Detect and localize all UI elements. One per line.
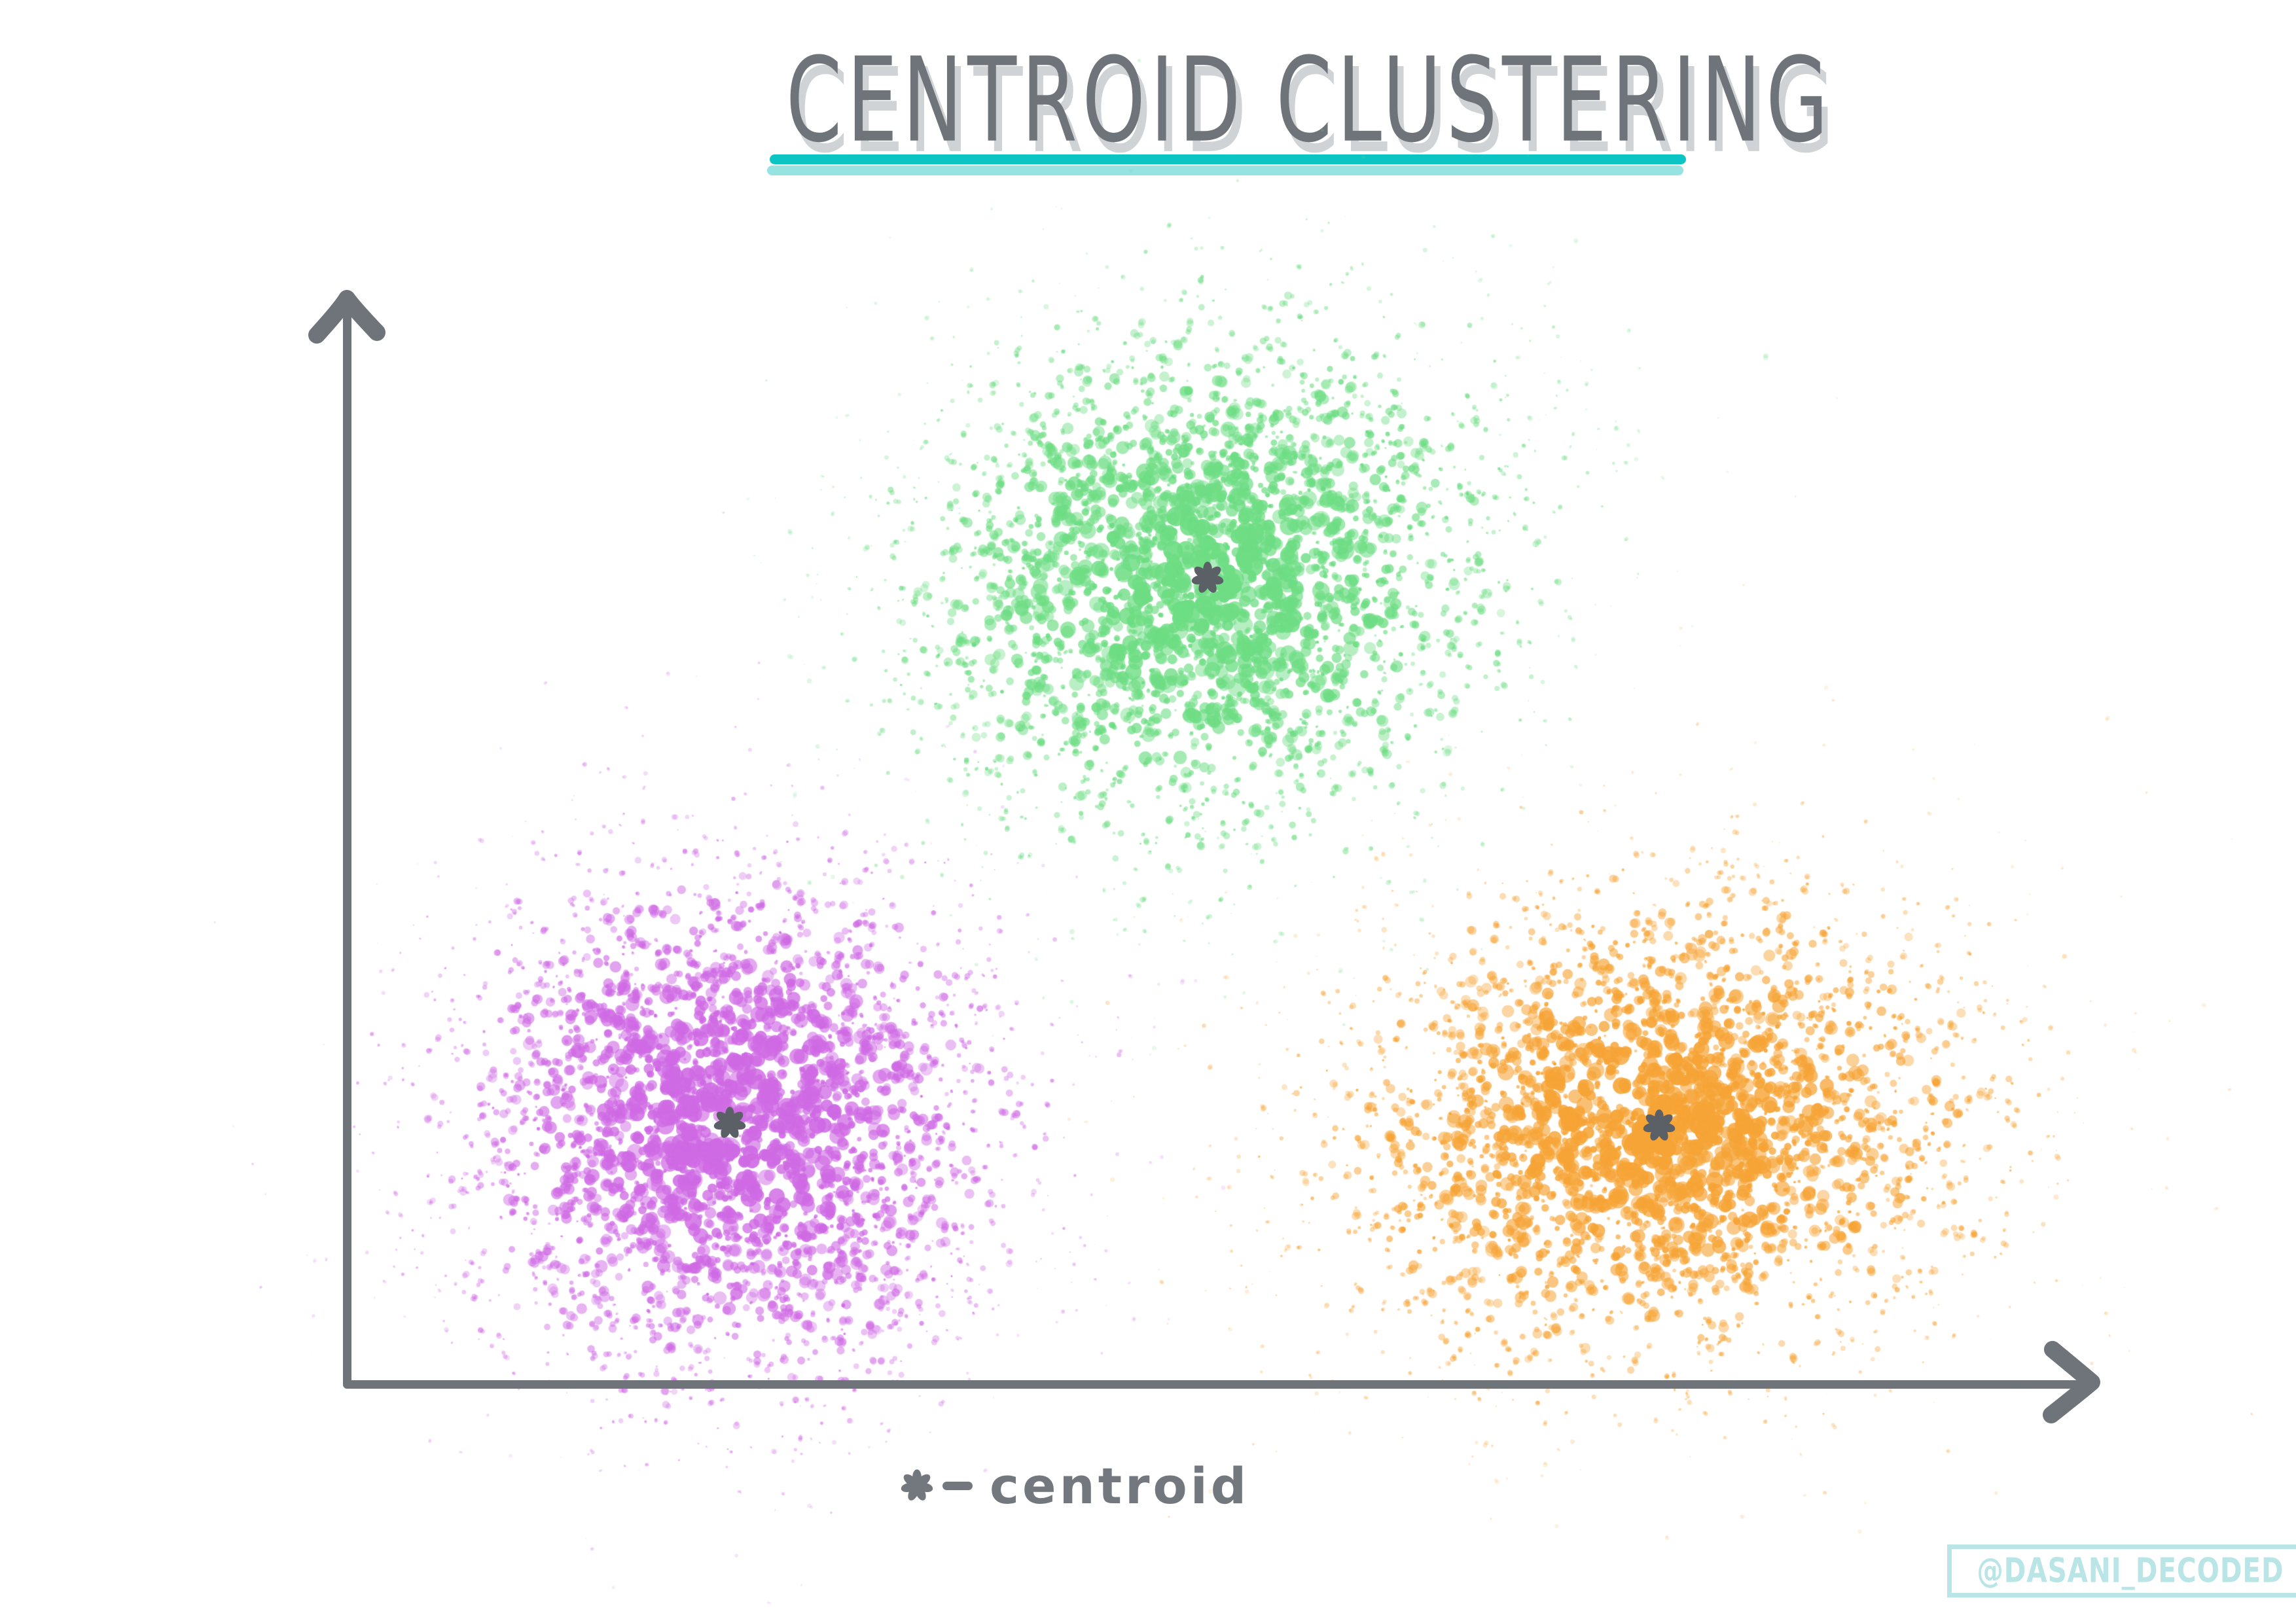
arrow-up-icon [308,288,393,360]
watermark-badge: @DASANI_DECODED [1947,1544,2296,1597]
arrow-right-icon [2029,1342,2121,1433]
asterisk-icon [897,1465,937,1506]
legend: centroid [897,1443,1249,1528]
canvas-root: CENTROID CLUSTERING centroid @DASANI_DEC… [0,0,2296,1623]
plot-area [0,0,2296,1623]
centroid-marker-green [1187,558,1228,601]
x-axis-line [343,1380,2081,1389]
y-axis-line [343,308,351,1389]
watermark-handle: @DASANI_DECODED [1977,1551,2284,1590]
legend-dash [942,1482,973,1490]
centroid-marker-purple [709,1103,750,1146]
legend-label: centroid [990,1457,1249,1515]
centroid-marker-orange [1639,1105,1679,1149]
